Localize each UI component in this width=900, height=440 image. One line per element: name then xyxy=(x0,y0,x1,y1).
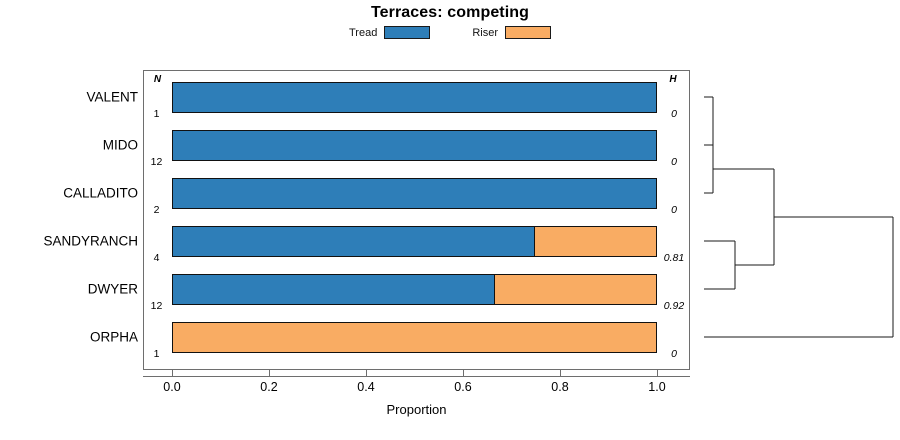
category-label: SANDYRANCH xyxy=(43,234,138,249)
chart-title: Terraces: competing xyxy=(0,4,900,22)
legend-label-riser: Riser xyxy=(472,27,498,39)
n-value: 4 xyxy=(143,252,170,264)
x-axis-tick xyxy=(172,370,173,376)
x-axis-tick-label: 0.0 xyxy=(163,380,180,394)
x-axis-tick xyxy=(366,370,367,376)
x-axis-tick xyxy=(463,370,464,376)
legend-swatch-riser xyxy=(505,26,551,39)
chart-legend: Tread Riser xyxy=(0,26,900,39)
chart-root: Terraces: competing Tread Riser VALENTMI… xyxy=(0,0,900,440)
legend-swatch-tread xyxy=(384,26,430,39)
x-axis-line xyxy=(143,376,690,377)
h-column-header: H xyxy=(658,74,688,85)
n-value: 2 xyxy=(143,204,170,216)
n-column-header: N xyxy=(143,74,172,85)
x-axis-tick xyxy=(560,370,561,376)
h-value: 0.81 xyxy=(658,252,690,264)
dendrogram xyxy=(690,70,900,370)
x-axis-tick-label: 0.2 xyxy=(260,380,277,394)
x-axis-tick-label: 0.8 xyxy=(551,380,568,394)
n-value: 1 xyxy=(143,108,170,120)
n-column: N 11224121 xyxy=(143,70,172,370)
n-value: 12 xyxy=(143,156,170,168)
x-axis-tick xyxy=(269,370,270,376)
legend-label-tread: Tread xyxy=(349,27,377,39)
category-axis-labels: VALENTMIDOCALLADITOSANDYRANCHDWYERORPHA xyxy=(0,70,138,370)
x-axis-title: Proportion xyxy=(143,402,690,417)
h-value: 0 xyxy=(658,204,690,216)
legend-item-riser[interactable]: Riser xyxy=(472,26,551,39)
n-value: 1 xyxy=(143,348,170,360)
category-label: DWYER xyxy=(88,282,138,297)
category-label: VALENT xyxy=(86,90,138,105)
dendrogram-links xyxy=(704,97,893,337)
x-axis-tick-label: 1.0 xyxy=(648,380,665,394)
category-label: ORPHA xyxy=(90,330,138,345)
legend-item-tread[interactable]: Tread xyxy=(349,26,430,39)
x-axis-tick xyxy=(657,370,658,376)
h-value: 0 xyxy=(658,108,690,120)
x-axis-tick-label: 0.6 xyxy=(454,380,471,394)
h-value: 0 xyxy=(658,156,690,168)
h-value: 0 xyxy=(658,348,690,360)
h-column: H 0000.810.920 xyxy=(658,70,690,370)
h-value: 0.92 xyxy=(658,300,690,312)
x-axis-tick-label: 0.4 xyxy=(357,380,374,394)
n-value: 12 xyxy=(143,300,170,312)
dendrogram-svg xyxy=(690,70,900,370)
category-label: MIDO xyxy=(103,138,138,153)
category-label: CALLADITO xyxy=(63,186,138,201)
plot-panel xyxy=(143,70,690,370)
